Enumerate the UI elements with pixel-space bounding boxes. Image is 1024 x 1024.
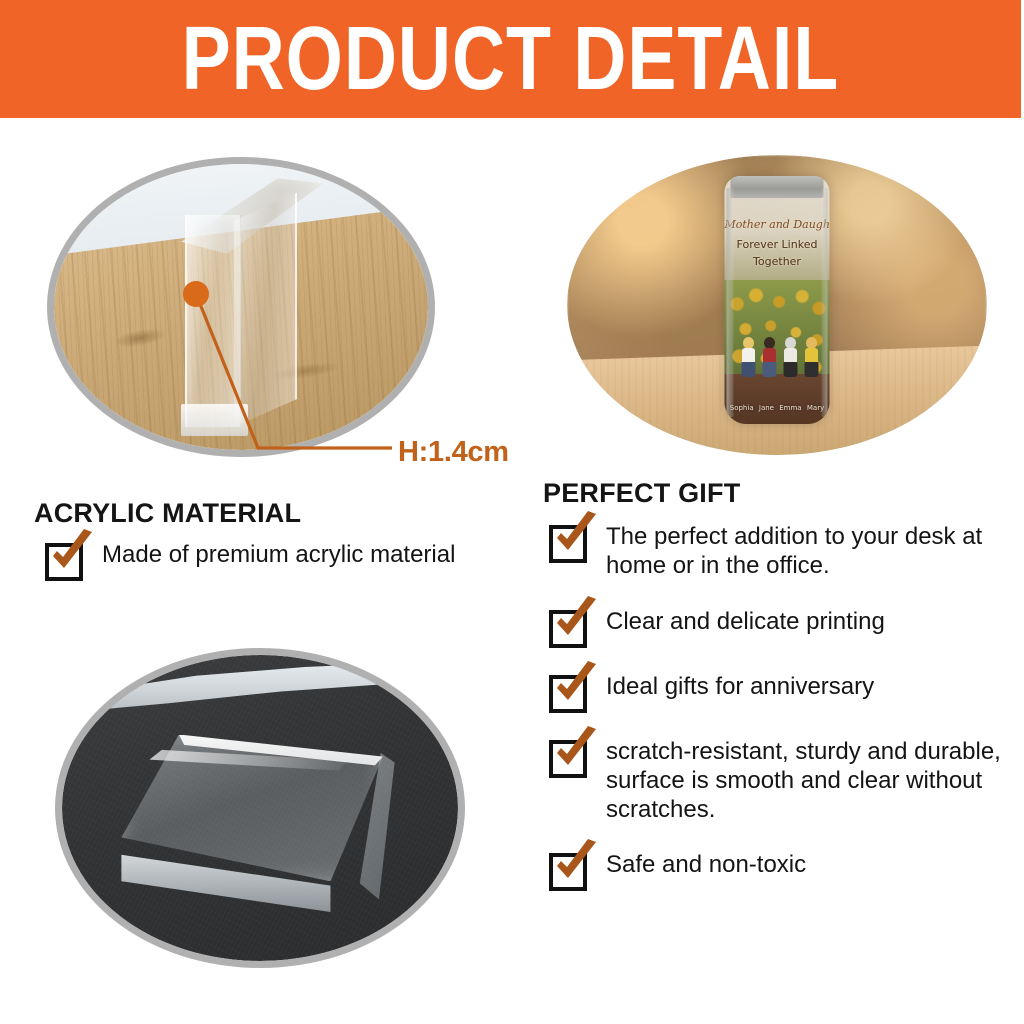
character-figure [762,337,777,379]
checkbox-checked[interactable] [549,525,587,563]
figure-legs [763,362,777,377]
section-title-acrylic-material: ACRYLIC MATERIAL [34,498,301,529]
feature-text: scratch-resistant, sturdy and durable, s… [606,737,1009,825]
jar-left-rim [727,188,734,416]
feature-text: Made of premium acrylic material [102,540,455,569]
feature-row: scratch-resistant, sturdy and durable, s… [549,737,1009,825]
page-title: PRODUCT DETAIL [182,14,840,104]
feature-row: Ideal gifts for anniversary [549,672,1009,713]
feature-row: Made of premium acrylic material [45,540,455,581]
figure-body [763,348,776,363]
checkbox-checked[interactable] [549,675,587,713]
checkmark-icon [548,659,604,715]
figure-name-labels: Sophia Jane Emma Mary [725,404,830,412]
acrylic-side-face [234,193,298,428]
acrylic-base-edge [181,404,248,435]
checkbox-checked[interactable] [549,853,587,891]
artwork-line-two: Forever Linked [725,238,830,251]
acrylic-block-on-slate-photo [55,648,465,968]
product-detail-infographic: PRODUCT DETAIL [0,0,1024,1024]
jar-shaped-acrylic-plaque-photo: Sophia Jane Emma Mary Mother and Daughte… [567,155,987,455]
character-figure [741,337,756,379]
figure-name: Jane [759,404,774,412]
jar-right-rim [821,188,827,416]
header-banner: PRODUCT DETAIL [0,0,1021,118]
acrylic-front-face [185,215,241,427]
checkmark-icon [548,594,604,650]
ground-artwork [725,374,830,424]
figure-legs [742,362,756,377]
checkmark-icon [548,509,604,565]
character-figure [804,337,819,379]
figure-body [742,348,755,363]
photo-edge-contents [54,164,428,450]
feature-row: Clear and delicate printing [549,607,1009,648]
jar-lid [731,176,823,198]
jar-plaque: Sophia Jane Emma Mary Mother and Daughte… [725,176,830,424]
checkbox-checked[interactable] [549,610,587,648]
figure-name: Emma [779,404,801,412]
feature-text: The perfect addition to your desk at hom… [606,522,1009,581]
figure-body [784,348,797,363]
photo-jar-contents: Sophia Jane Emma Mary Mother and Daughte… [567,155,987,455]
photo-slate-contents [62,655,458,961]
checkmark-icon [44,527,100,583]
artwork-line-three: Together [725,255,830,268]
feature-text: Ideal gifts for anniversary [606,672,874,701]
measurement-label: H:1.4cm [398,436,509,469]
feature-text: Clear and delicate printing [606,607,885,636]
perfect-gift-feature-list: The perfect addition to your desk at hom… [549,522,1009,911]
section-title-perfect-gift: PERFECT GIFT [543,478,740,509]
figure-legs [805,362,819,377]
figure-legs [784,362,798,377]
feature-row: The perfect addition to your desk at hom… [549,522,1009,581]
checkbox-checked[interactable] [549,740,587,778]
feature-text: Safe and non-toxic [606,850,806,879]
character-figure [783,337,798,379]
checkbox-checked[interactable] [45,543,83,581]
acrylic-block-edge-photo [47,157,435,457]
artwork-script-title: Mother and Daughters [725,218,830,231]
feature-row: Safe and non-toxic [549,850,1009,891]
checkmark-icon [548,837,604,893]
figure-body [805,348,818,363]
checkmark-icon [548,724,604,780]
